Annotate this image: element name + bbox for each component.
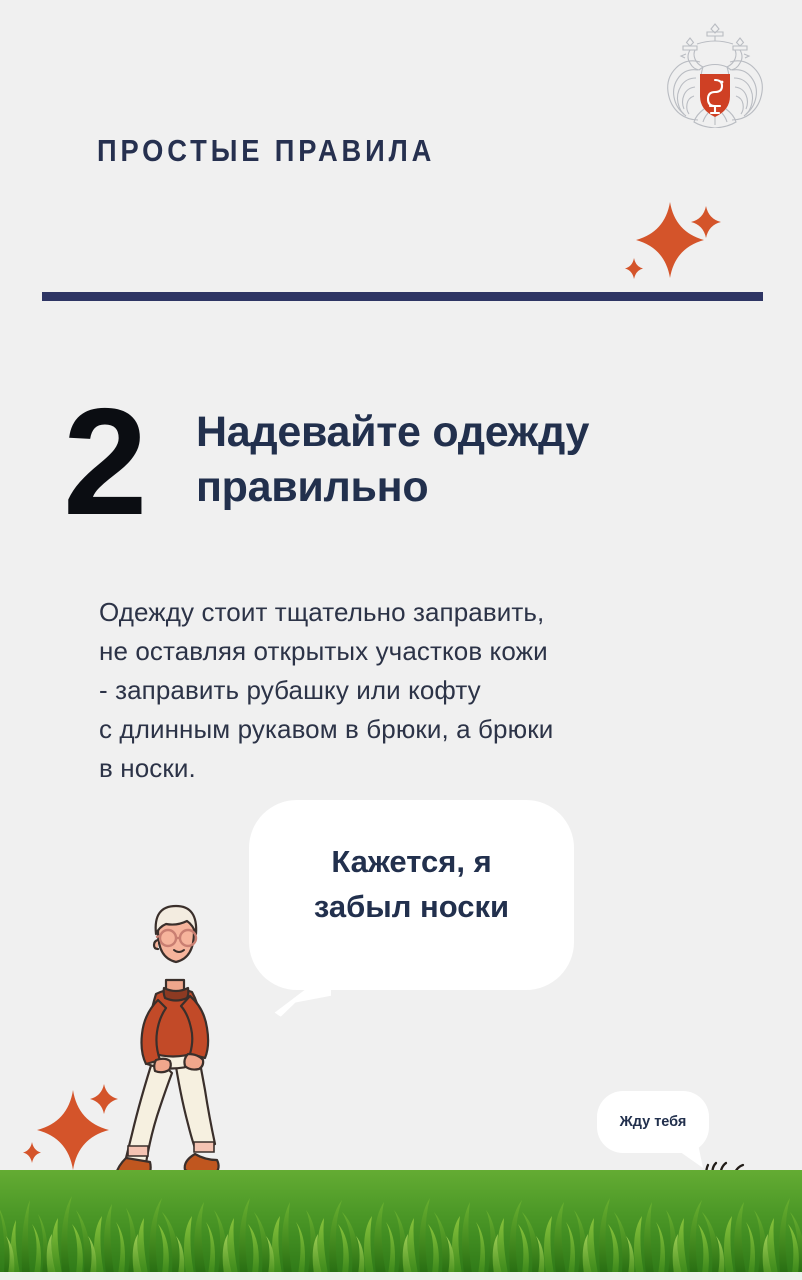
tick-speech-bubble: Жду тебя bbox=[597, 1091, 709, 1153]
speech-bubble-text: Кажется, я забыл носки bbox=[249, 840, 574, 930]
rule-body-text: Одежду стоит тщательно заправить, не ост… bbox=[99, 593, 739, 788]
body-line: Одежду стоит тщательно заправить, bbox=[99, 593, 739, 632]
sparkle-cluster-icon bbox=[618, 196, 748, 296]
bottom-strip bbox=[0, 1272, 802, 1280]
body-line: в носки. bbox=[99, 749, 739, 788]
tick-speech-text: Жду тебя bbox=[597, 1091, 709, 1153]
poster-canvas: ПРОСТЫЕ ПРАВИЛА 2 Надевайте одежду прави… bbox=[0, 0, 802, 1280]
grass-band bbox=[0, 1155, 802, 1280]
speech-line2: забыл носки bbox=[249, 885, 574, 930]
section-divider bbox=[42, 292, 763, 301]
body-line: с длинным рукавом в брюки, а брюки bbox=[99, 710, 739, 749]
rule-heading-line2: правильно bbox=[196, 460, 726, 515]
body-line: - заправить рубашку или кофту bbox=[99, 671, 739, 710]
speech-line1: Кажется, я bbox=[249, 840, 574, 885]
rule-heading: Надевайте одежду правильно bbox=[196, 405, 726, 515]
rospotrebnadzor-emblem-icon bbox=[660, 16, 770, 128]
rule-heading-line1: Надевайте одежду bbox=[196, 405, 726, 460]
page-title: ПРОСТЫЕ ПРАВИЛА bbox=[97, 133, 435, 169]
rule-number: 2 bbox=[63, 386, 145, 538]
person-speech-bubble: Кажется, я забыл носки bbox=[249, 800, 574, 990]
body-line: не оставляя открытых участков кожи bbox=[99, 632, 739, 671]
